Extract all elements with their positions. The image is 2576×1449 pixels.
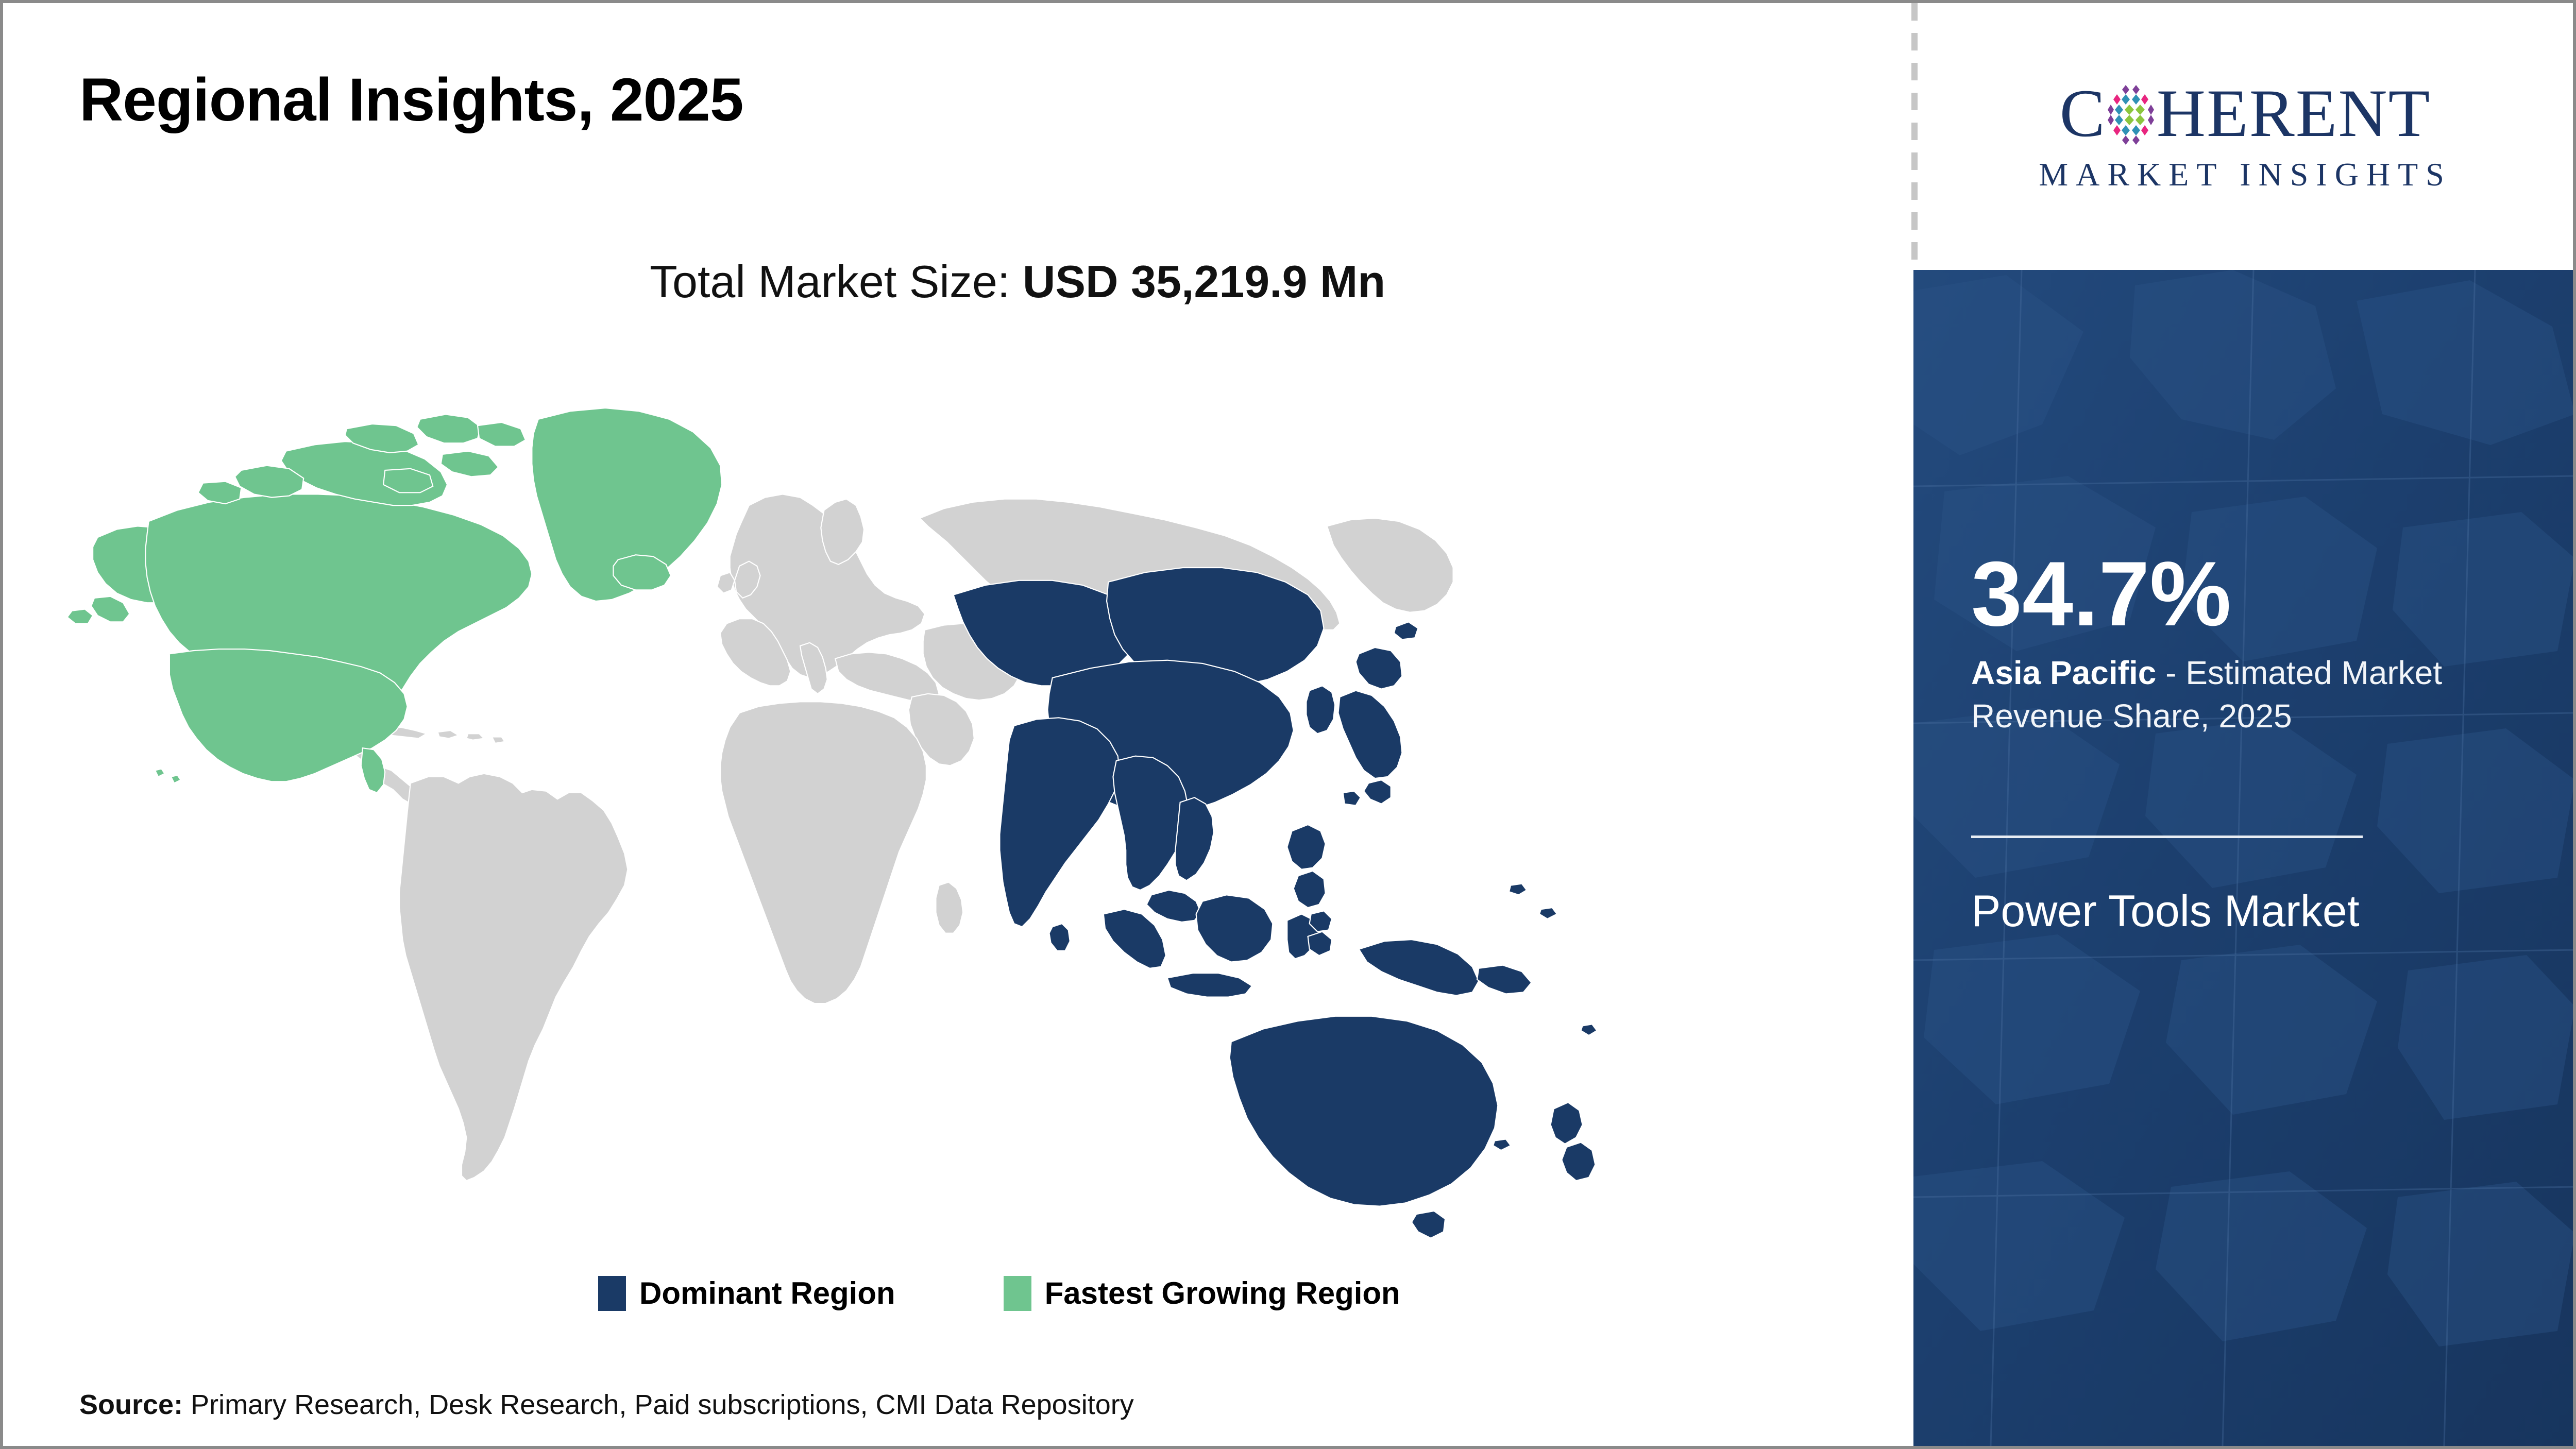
total-market-size: Total Market Size: USD 35,219.9 Mn — [650, 255, 1385, 308]
source-label: Source: — [79, 1389, 183, 1420]
panel-divider-rule — [1971, 836, 2363, 838]
market-name: Power Tools Market — [1971, 883, 2435, 940]
stat-caption: Asia Pacific - Estimated Market Revenue … — [1971, 651, 2461, 738]
left-content-panel: Regional Insights, 2025 Total Market Siz… — [3, 3, 1914, 1446]
brand-logo: C — [1918, 3, 2573, 270]
legend-item-dominant: Dominant Region — [598, 1275, 895, 1311]
panel-content: 34.7% Asia Pacific - Estimated Market Re… — [1971, 270, 2502, 1446]
right-stat-panel: 34.7% Asia Pacific - Estimated Market Re… — [1913, 270, 2575, 1446]
total-market-size-value: USD 35,219.9 Mn — [1023, 256, 1385, 307]
source-note: Source: Primary Research, Desk Research,… — [79, 1389, 1134, 1421]
vertical-dashed-divider — [1911, 3, 1918, 271]
stat-region-name: Asia Pacific — [1971, 654, 2156, 691]
legend-item-fastest-growing: Fastest Growing Region — [1004, 1275, 1400, 1311]
map-legend: Dominant Region Fastest Growing Region — [598, 1275, 1400, 1311]
world-map-container — [49, 359, 1647, 1245]
source-text: Primary Research, Desk Research, Paid su… — [183, 1389, 1134, 1420]
legend-swatch-fastest-growing — [1004, 1276, 1031, 1311]
regional-insights-infographic: Regional Insights, 2025 Total Market Siz… — [0, 0, 2576, 1449]
world-map-svg — [49, 359, 1647, 1245]
legend-swatch-dominant — [598, 1276, 626, 1311]
legend-label-dominant: Dominant Region — [639, 1275, 895, 1311]
map-region-asia-pacific — [954, 568, 1597, 1238]
page-title: Regional Insights, 2025 — [79, 65, 743, 135]
logo-letter-c: C — [2060, 79, 2106, 147]
globe-icon — [2106, 82, 2156, 145]
legend-label-fastest-growing: Fastest Growing Region — [1045, 1275, 1400, 1311]
logo-tagline: MARKET INSIGHTS — [2039, 156, 2452, 194]
logo-word-herent: HERENT — [2157, 79, 2431, 147]
total-market-size-label: Total Market Size: — [650, 256, 1023, 307]
stat-percentage: 34.7% — [1971, 548, 2231, 640]
